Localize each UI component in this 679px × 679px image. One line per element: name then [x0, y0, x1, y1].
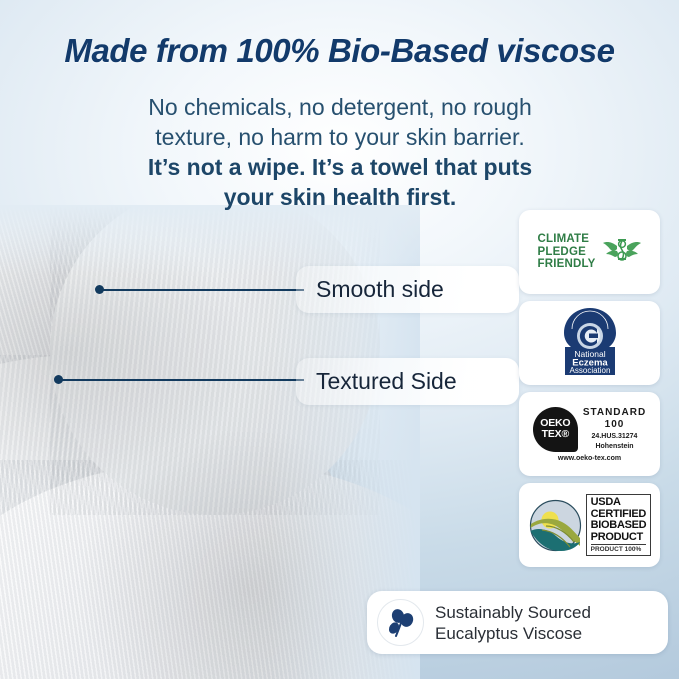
badge-oeko-tex: OEKO TEX® STANDARD 100 24.HUS.31274 Hohe… [519, 392, 660, 476]
oeko-standard-label: STANDARD [583, 407, 646, 419]
eucalyptus-line-2: Eucalyptus Viscose [435, 623, 591, 644]
leader-dot-icon [95, 285, 104, 294]
subheading-line-3: It’s not a wipe. It’s a towel that puts [60, 152, 620, 182]
leader-line-smooth [99, 289, 304, 291]
callout-textured-label: Textured Side [316, 368, 457, 395]
subheading: No chemicals, no detergent, no rough tex… [60, 92, 620, 212]
eczema-shield-icon: ACCEPTEDACCEPTED National Eczema Associa… [559, 307, 621, 379]
eucalyptus-badge: Sustainably Sourced Eucalyptus Viscose [367, 591, 668, 654]
usda-line-1: USDA [591, 497, 647, 509]
oeko-tex-mark-icon: OEKO TEX® [533, 407, 578, 452]
product-infographic: Made from 100% Bio-Based viscose No chem… [0, 0, 679, 679]
subheading-line-2: texture, no harm to your skin barrier. [60, 122, 620, 152]
subheading-line-1: No chemicals, no detergent, no rough [60, 92, 620, 122]
cpf-line-1: CLIMATE [537, 233, 595, 246]
oeko-standard-number: 100 [583, 419, 646, 431]
oeko-mark-line-2: TEX® [542, 428, 569, 440]
leader-line-textured [58, 379, 304, 381]
eucalyptus-line-1: Sustainably Sourced [435, 602, 591, 623]
page-title: Made from 100% Bio-Based viscose [0, 32, 679, 70]
callout-smooth-side: Smooth side [296, 266, 519, 313]
cpf-line-2: PLEDGE [537, 246, 595, 259]
eucalyptus-leaf-icon [385, 607, 417, 639]
callout-smooth-label: Smooth side [316, 276, 444, 303]
photo-top-fade [0, 205, 420, 275]
usda-line-3: BIOBASED [591, 520, 647, 532]
oeko-institute: Hohenstein [583, 443, 646, 452]
badge-climate-pledge-friendly: CLIMATE PLEDGE FRIENDLY [519, 210, 660, 294]
badge-national-eczema-association: ACCEPTEDACCEPTED National Eczema Associa… [519, 301, 660, 385]
certification-badge-list: CLIMATE PLEDGE FRIENDLY [519, 210, 660, 574]
winged-hourglass-icon [602, 235, 642, 269]
usda-landscape-icon [528, 498, 583, 553]
leader-dot-icon [54, 375, 63, 384]
usda-line-4: PRODUCT [591, 532, 647, 544]
usda-subtext: PRODUCT 100% [591, 544, 647, 553]
callout-textured-side: Textured Side [296, 358, 519, 405]
cpf-line-3: FRIENDLY [537, 258, 595, 271]
oeko-certificate-number: 24.HUS.31274 [583, 433, 646, 442]
svg-text:Association: Association [569, 366, 610, 375]
badge-usda-biobased: USDA CERTIFIED BIOBASED PRODUCT PRODUCT … [519, 483, 660, 567]
subheading-line-4: your skin health first. [60, 182, 620, 212]
oeko-url: www.oeko-tex.com [558, 455, 621, 462]
eucalyptus-icon-circle [377, 599, 424, 646]
